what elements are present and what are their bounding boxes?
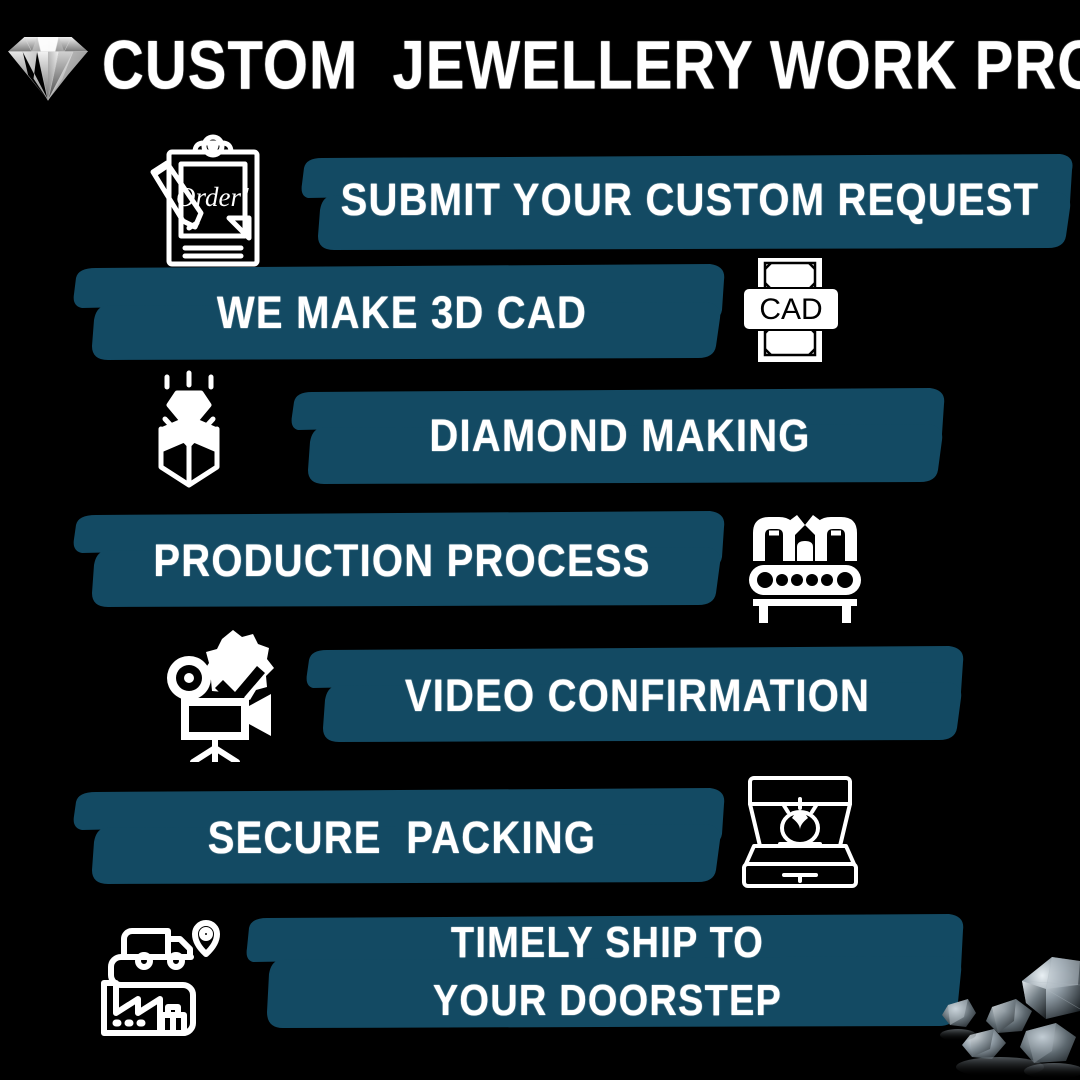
page-title: CUSTOM JEWELLERY WORK PROCESS	[102, 31, 1080, 99]
step-row-7: TIMELY SHIP TO YOUR DOORSTEP	[0, 908, 1080, 1048]
diamond-gem-icon	[2, 28, 94, 104]
step-label-6: SECURE PACKING	[72, 774, 732, 902]
step-label-4: PRODUCTION PROCESS	[72, 497, 732, 625]
step-label-2: WE MAKE 3D CAD	[72, 250, 732, 375]
step-label-7: TIMELY SHIP TO YOUR DOORSTEP	[245, 899, 970, 1047]
video-camera-check-icon	[160, 622, 300, 762]
cad-printer-icon: CAD	[730, 252, 850, 367]
step-row-4: PRODUCTION PROCESS	[0, 505, 1080, 617]
step-row-6: SECURE PACKING	[0, 782, 1080, 894]
step-label-3: DIAMOND MAKING	[290, 372, 950, 500]
step-row-5: VIDEO CONFIRMATION	[0, 640, 1080, 752]
robot-conveyor-icon	[740, 501, 870, 626]
header: CUSTOM JEWELLERY WORK PROCESS	[0, 18, 1080, 113]
step-banner-4[interactable]: PRODUCTION PROCESS	[72, 505, 732, 617]
ring-box-icon	[735, 770, 865, 895]
clipboard-order-caption: Order!	[176, 182, 250, 212]
step-banner-1[interactable]: SUBMIT YOUR CUSTOM REQUEST	[300, 140, 1080, 260]
step-banner-6[interactable]: SECURE PACKING	[72, 782, 732, 894]
step-row-2: WE MAKE 3D CAD CAD	[0, 258, 1080, 368]
step-banner-2[interactable]: WE MAKE 3D CAD	[72, 258, 732, 368]
step-banner-7[interactable]: TIMELY SHIP TO YOUR DOORSTEP	[245, 908, 970, 1038]
step-banner-3[interactable]: DIAMOND MAKING	[290, 380, 950, 492]
step-label-5: VIDEO CONFIRMATION	[305, 632, 970, 760]
step-label-1: SUBMIT YOUR CUSTOM REQUEST	[300, 132, 1080, 269]
diamond-in-box-icon	[148, 366, 278, 496]
step-row-1: Order! SUBMIT YOUR CUSTOM REQUEST	[0, 140, 1080, 260]
clipboard-order-icon: Order!	[128, 130, 288, 270]
cad-printer-caption: CAD	[759, 293, 822, 326]
step-row-3: DIAMOND MAKING	[0, 380, 1080, 495]
shipping-route-icon	[95, 912, 235, 1044]
infographic-canvas: CUSTOM JEWELLERY WORK PROCESS	[0, 0, 1080, 1080]
step-banner-5[interactable]: VIDEO CONFIRMATION	[305, 640, 970, 752]
